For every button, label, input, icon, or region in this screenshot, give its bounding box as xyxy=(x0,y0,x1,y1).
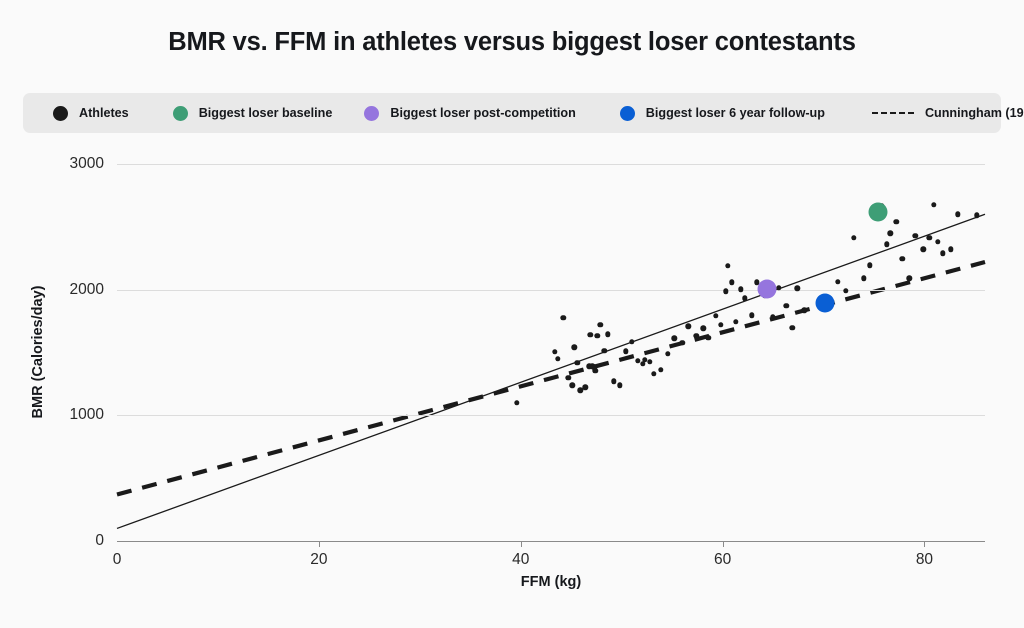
legend-dot-icon xyxy=(620,106,635,121)
legend-item-label: Biggest loser post-competition xyxy=(390,106,575,120)
legend-item-2[interactable]: Biggest loser post-competition xyxy=(364,106,575,121)
legend-dashed-line-icon xyxy=(872,112,914,114)
x-tick-mark-60 xyxy=(723,541,724,547)
legend-item-label: Biggest loser 6 year follow-up xyxy=(646,106,825,120)
chart-legend: AthletesBiggest loser baselineBiggest lo… xyxy=(23,93,1001,133)
legend-item-label: Athletes xyxy=(79,106,129,120)
x-tick-label-40: 40 xyxy=(512,551,529,569)
legend-item-3[interactable]: Biggest loser 6 year follow-up xyxy=(620,106,825,121)
x-tick-mark-80 xyxy=(924,541,925,547)
highlight-point-biggest-loser-post-competition xyxy=(757,279,776,298)
legend-item-label: Biggest loser baseline xyxy=(199,106,333,120)
athletes-fit-line xyxy=(117,214,985,528)
y-tick-label-0: 0 xyxy=(95,532,104,550)
x-tick-label-20: 20 xyxy=(310,551,327,569)
chart-page: BMR vs. FFM in athletes versus biggest l… xyxy=(0,0,1024,628)
highlight-point-biggest-loser-baseline xyxy=(869,202,888,221)
highlight-point-biggest-loser-6-year-follow-up xyxy=(815,293,834,312)
y-tick-label-3000: 3000 xyxy=(70,155,104,173)
gridline-y-3000 xyxy=(117,164,985,165)
x-axis-title: FFM (kg) xyxy=(117,574,985,590)
x-tick-label-60: 60 xyxy=(714,551,731,569)
x-tick-label-0: 0 xyxy=(113,551,122,569)
y-axis-title: BMR (Calories/day) xyxy=(30,286,46,419)
x-tick-label-80: 80 xyxy=(916,551,933,569)
x-axis-line xyxy=(117,541,985,542)
legend-item-1[interactable]: Biggest loser baseline xyxy=(173,106,333,121)
trend-lines-layer xyxy=(117,164,985,541)
plot-area xyxy=(117,164,985,541)
legend-dot-icon xyxy=(173,106,188,121)
x-tick-mark-20 xyxy=(319,541,320,547)
y-tick-label-1000: 1000 xyxy=(70,406,104,424)
legend-item-4[interactable]: Cunningham (1991) xyxy=(872,106,1024,120)
legend-item-label: Cunningham (1991) xyxy=(925,106,1024,120)
y-tick-label-2000: 2000 xyxy=(70,281,104,299)
x-tick-mark-40 xyxy=(521,541,522,547)
legend-dot-icon xyxy=(364,106,379,121)
gridline-y-2000 xyxy=(117,290,985,291)
page-title: BMR vs. FFM in athletes versus biggest l… xyxy=(0,28,1024,57)
legend-item-0[interactable]: Athletes xyxy=(53,106,129,121)
cunningham-reference-line xyxy=(117,262,985,494)
gridline-y-1000 xyxy=(117,415,985,416)
legend-dot-icon xyxy=(53,106,68,121)
